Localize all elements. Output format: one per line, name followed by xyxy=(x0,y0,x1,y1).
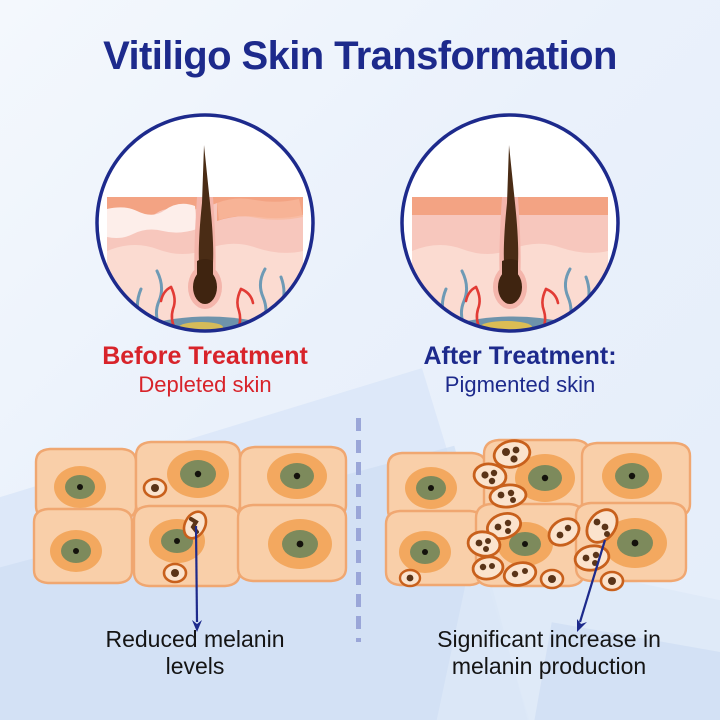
cells-after-svg xyxy=(380,428,710,608)
skin-diagram-before-svg xyxy=(93,111,317,335)
after-treatment-label: After Treatment: Pigmented skin xyxy=(350,342,690,397)
before-subheading: Depleted skin xyxy=(35,372,375,398)
after-footnote-line2: melanin production xyxy=(384,653,714,680)
melanocyte-cluster-before xyxy=(20,428,350,608)
infographic-poster: Vitiligo Skin Transformation xyxy=(0,0,720,720)
after-footnote-line1: Significant increase in xyxy=(384,626,714,653)
after-heading: After Treatment: xyxy=(350,342,690,372)
skin-diagram-after-svg xyxy=(398,111,622,335)
before-heading: Before Treatment xyxy=(35,342,375,372)
melanocyte-cluster-after xyxy=(380,428,710,608)
skin-cross-section-before xyxy=(93,111,317,335)
dashed-divider-icon xyxy=(356,418,361,642)
before-treatment-label: Before Treatment Depleted skin xyxy=(35,342,375,397)
skin-cross-section-after xyxy=(398,111,622,335)
after-subheading: Pigmented skin xyxy=(350,372,690,398)
after-footnote: Significant increase in melanin producti… xyxy=(384,626,714,680)
cells-before-svg xyxy=(20,428,350,608)
page-title: Vitiligo Skin Transformation xyxy=(0,34,720,79)
before-footnote-line1: Reduced melanin xyxy=(30,626,360,653)
before-footnote-line2: levels xyxy=(30,653,360,680)
before-footnote: Reduced melanin levels xyxy=(30,626,360,680)
